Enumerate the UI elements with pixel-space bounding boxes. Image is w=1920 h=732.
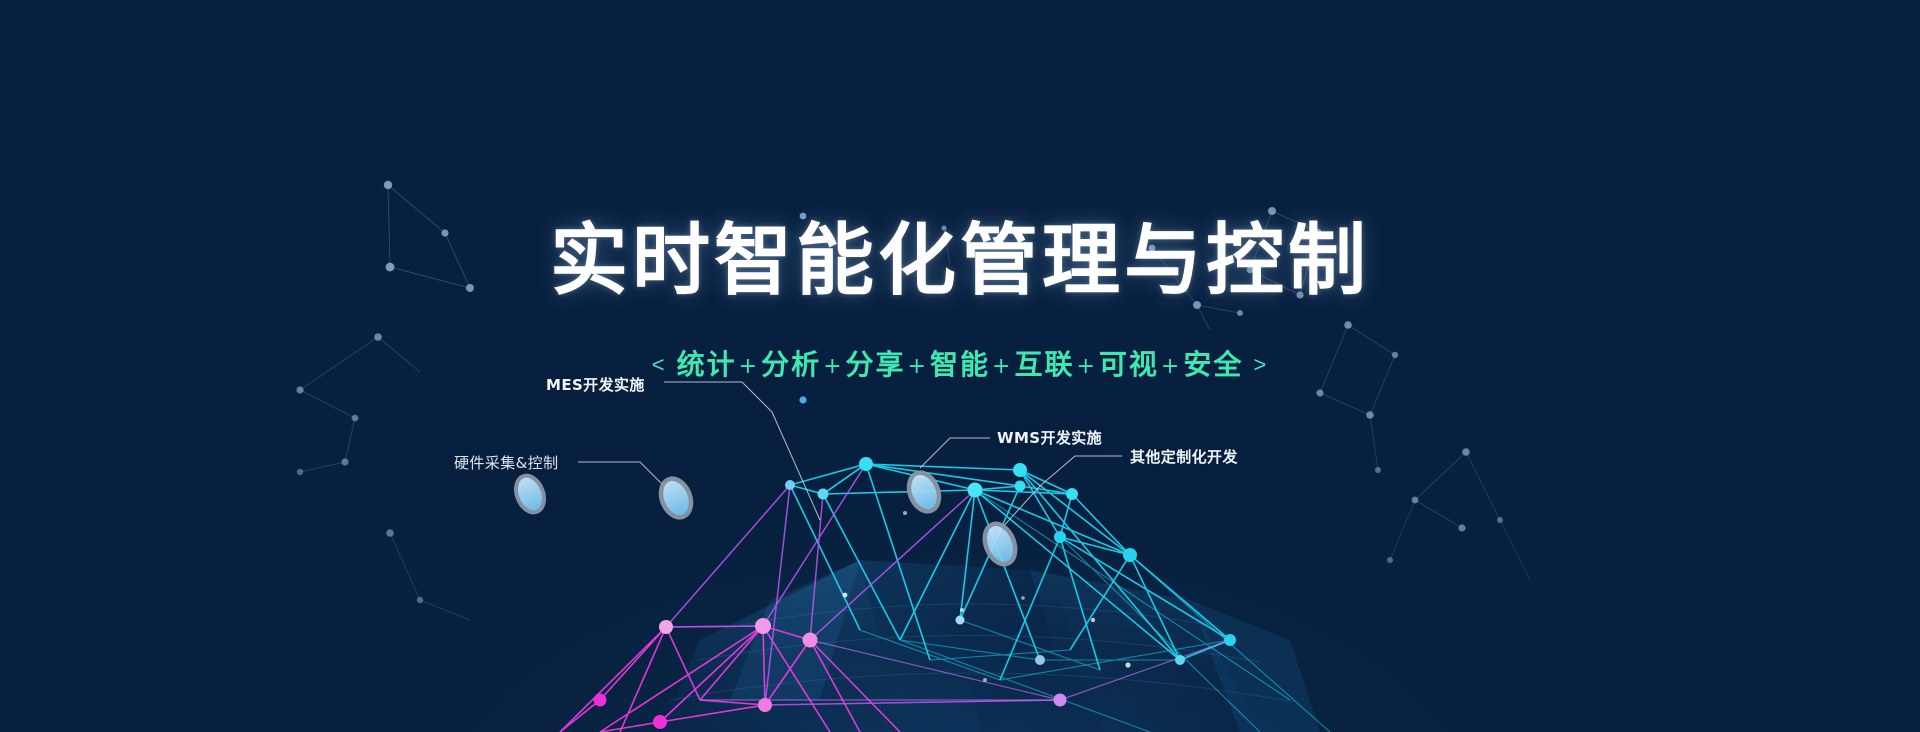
callout-label-hardware: 硬件采集&控制 xyxy=(454,452,559,473)
callout-leader-lines xyxy=(0,0,1920,732)
callout-label-wms: WMS开发实施 xyxy=(997,427,1102,448)
callout-label-other: 其他定制化开发 xyxy=(1130,446,1238,467)
banner-stage: 实时智能化管理与控制 <统计+分析+分享+智能+互联+可视+安全> MES开发实… xyxy=(0,0,1920,732)
callout-label-mes: MES开发实施 xyxy=(546,374,645,395)
